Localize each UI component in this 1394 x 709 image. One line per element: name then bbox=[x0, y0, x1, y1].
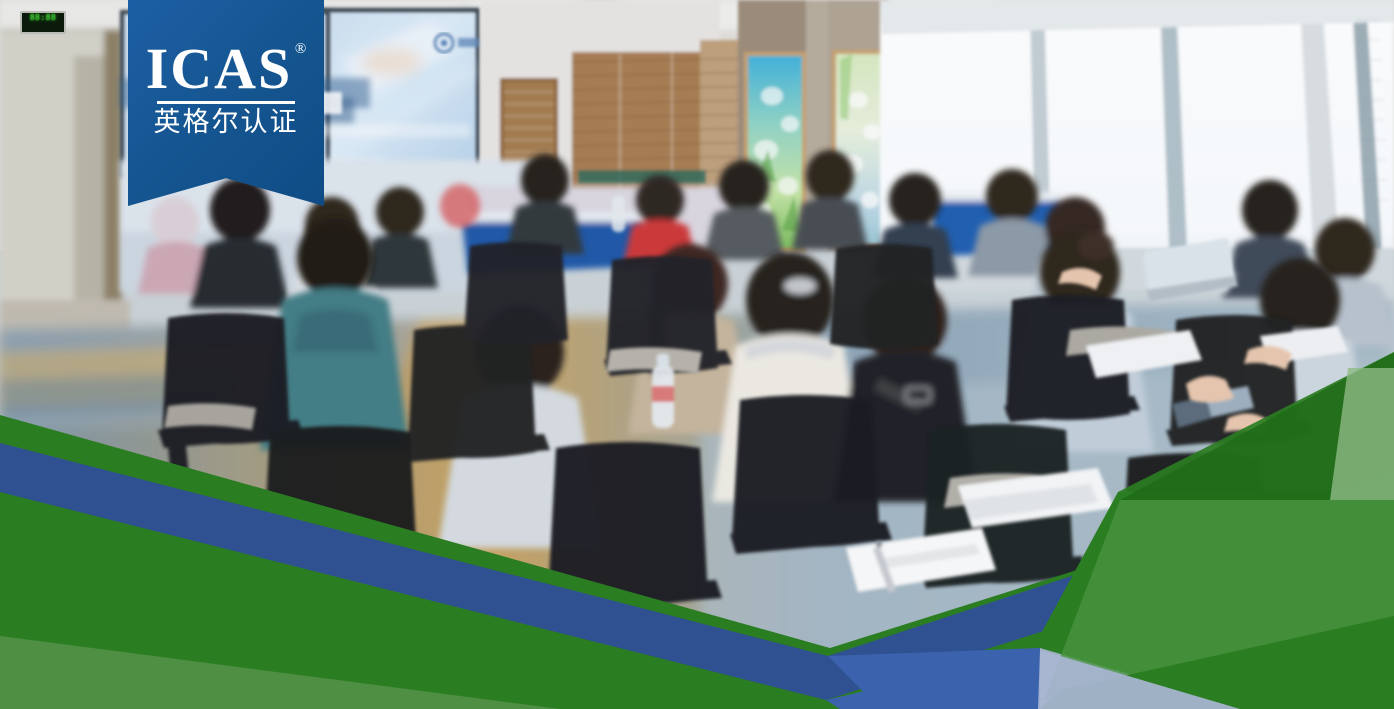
icas-logo-block: ICAS ® 英格尔认证 bbox=[128, 0, 324, 206]
icas-wordmark: ICAS bbox=[146, 40, 293, 98]
icas-wordmark-row: ICAS ® bbox=[146, 40, 307, 98]
registered-trademark-icon: ® bbox=[295, 42, 306, 57]
logo-underline-rule bbox=[157, 101, 295, 104]
icas-logo-lockup: ICAS ® 英格尔认证 bbox=[128, 40, 324, 136]
banner-root: 88:88 bbox=[0, 0, 1394, 709]
icas-chinese-name: 英格尔认证 bbox=[128, 109, 324, 136]
